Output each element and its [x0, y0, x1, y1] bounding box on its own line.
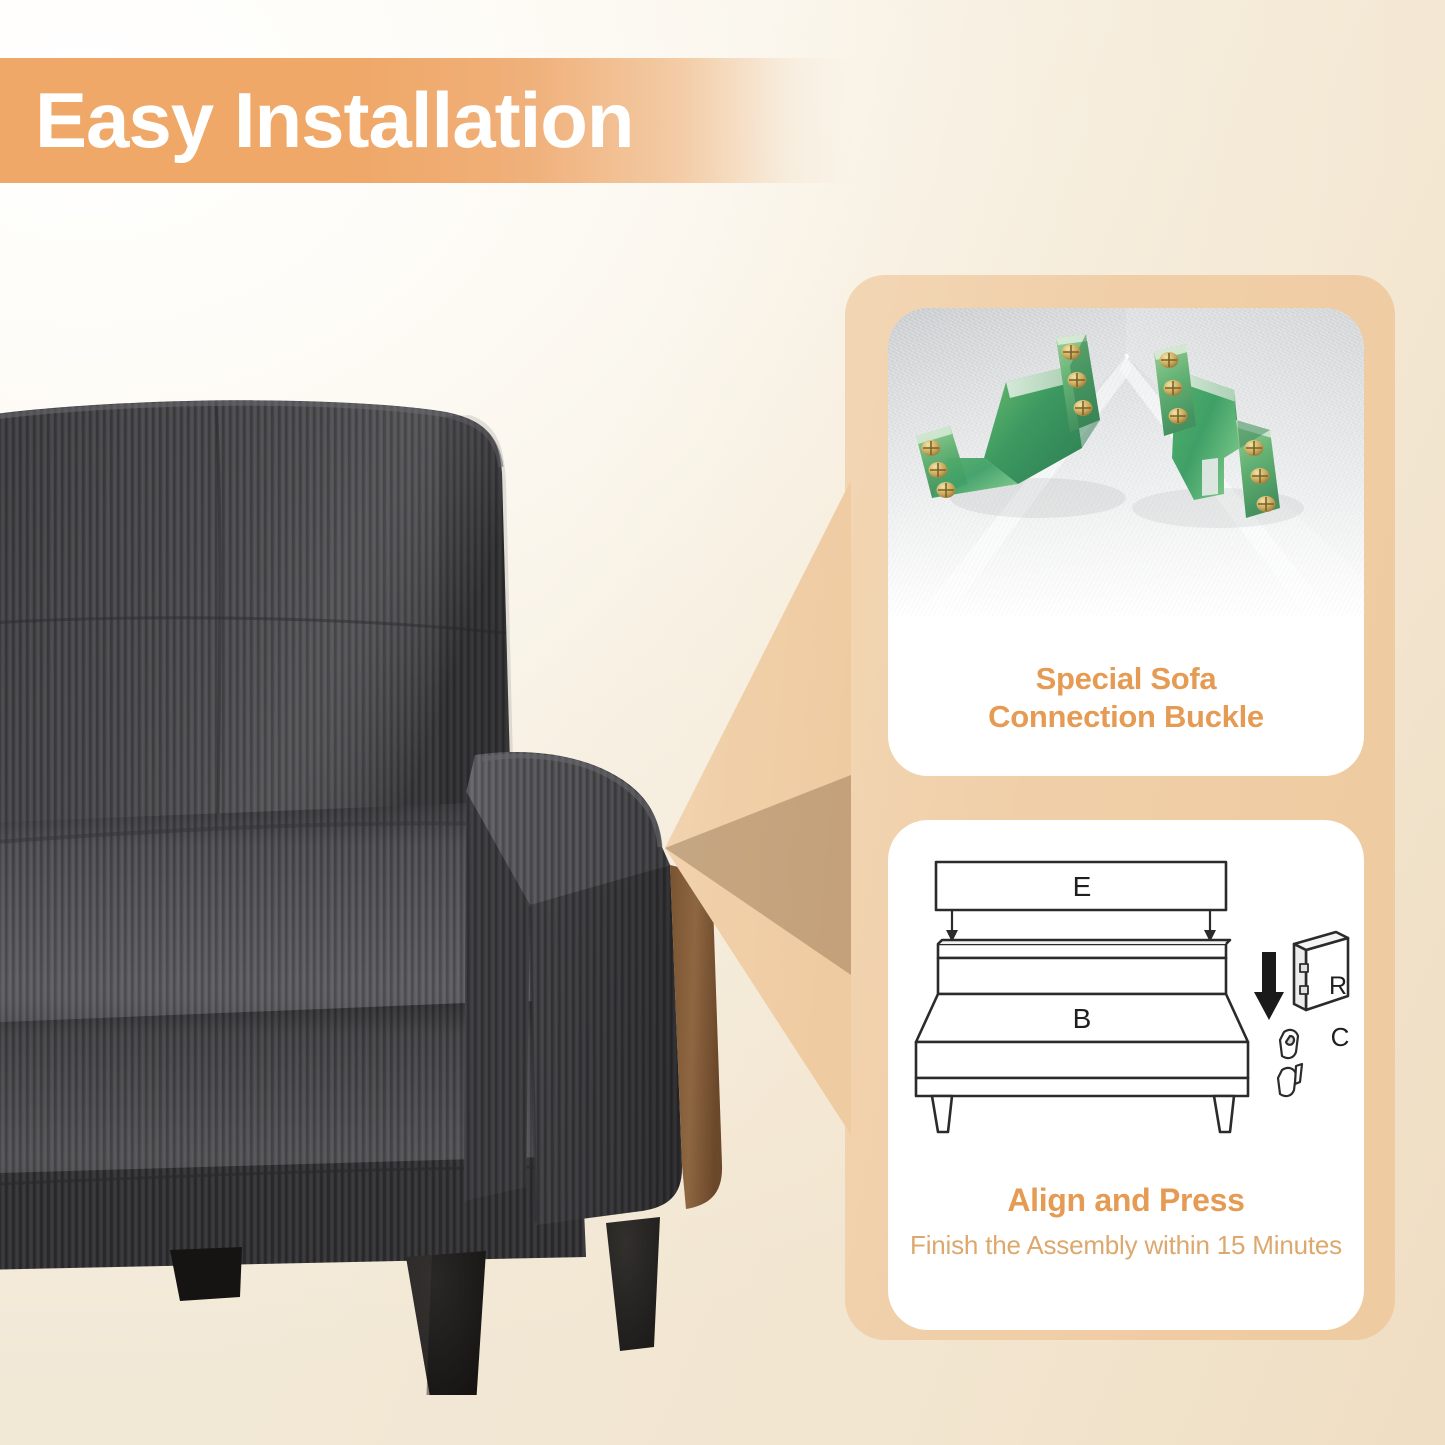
buckle-caption-line-1: Special Sofa	[888, 660, 1364, 698]
align-press-caption: Align and Press	[888, 1180, 1364, 1220]
diagram-part-C	[1278, 1030, 1302, 1096]
buckle-bracket-left	[916, 334, 1126, 518]
buckle-bracket-right	[1132, 344, 1304, 528]
buckle-photo	[888, 308, 1364, 616]
page-title: Easy Installation	[35, 60, 634, 180]
assembly-diagram: E B R C	[896, 846, 1356, 1146]
infographic-canvas: Special Sofa Connection Buckle	[0, 0, 1445, 1445]
sofa-product-photo	[0, 395, 740, 1395]
buckle-caption-line-2: Connection Buckle	[888, 698, 1364, 736]
diagram-label-C: C	[1331, 1022, 1350, 1052]
card-connection-buckle: Special Sofa Connection Buckle	[888, 308, 1364, 776]
sofa-back-cushion	[0, 400, 513, 825]
diagram-part-B	[916, 940, 1248, 1132]
buckle-caption: Special Sofa Connection Buckle	[888, 660, 1364, 736]
diagram-arrow-large	[1254, 952, 1284, 1020]
diagram-label-B: B	[1073, 1003, 1092, 1034]
diagram-arrows-small	[946, 910, 1216, 942]
diagram-label-E: E	[1073, 871, 1092, 902]
assembly-time-note: Finish the Assembly within 15 Minutes	[888, 1228, 1364, 1262]
sofa-armrest	[464, 752, 682, 1225]
card-align-and-press: E B R C Align and Press Finish the Assem…	[888, 820, 1364, 1330]
diagram-label-R: R	[1329, 972, 1347, 1000]
